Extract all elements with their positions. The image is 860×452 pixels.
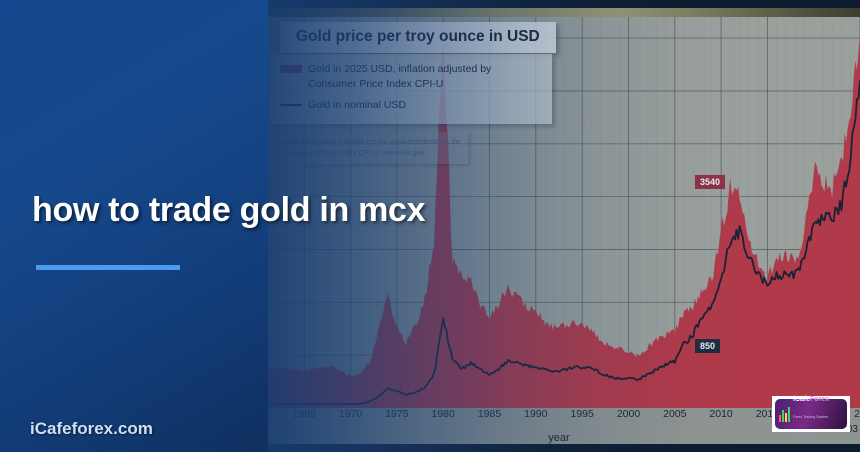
watermark-badge[interactable]: iCafeForex Forex Trading System icafefor…	[772, 396, 850, 432]
watermark-tagline: Forex Trading System	[793, 415, 828, 419]
legend-swatch-line-icon	[280, 101, 302, 109]
bottom-bar	[0, 444, 860, 452]
chart-top-strip	[258, 8, 860, 17]
legend-swatch-area-icon	[280, 65, 302, 73]
chart-x-axis-title: year	[258, 432, 860, 444]
chart-source-note: Gold price, daily, London pm fix: www.bu…	[274, 132, 468, 164]
page-title: how to trade gold in mcx	[32, 190, 502, 230]
watermark-badge-inner: iCafeForex Forex Trading System icafefor…	[775, 399, 847, 429]
x-tick-1970: 1970	[339, 408, 362, 420]
x-tick-1980: 1980	[432, 408, 455, 420]
site-brand-label: iCafeforex.com	[30, 419, 153, 439]
legend-item-inflation-adjusted: Gold in 2025 USD, inflation adjusted by …	[280, 62, 542, 92]
legend-label-nominal: Gold in nominal USD	[308, 98, 542, 113]
x-tick-1965: 1965	[293, 408, 316, 420]
watermark-name-secondary: Forex	[810, 396, 829, 403]
watermark-text-block: iCafeForex Forex Trading System icafefor…	[793, 389, 843, 439]
x-tick-25: 25	[854, 408, 860, 420]
watermark-subline: icafeforex.com	[793, 431, 813, 435]
social-share-card: 1965197019751980198519901995200020052010…	[0, 0, 860, 452]
bar-chart-icon	[779, 407, 790, 422]
x-tick-2010: 2010	[709, 408, 732, 420]
x-tick-1985: 1985	[478, 408, 501, 420]
source-line-cpi: Consumer Price Index CPI-U: www.bls.gov	[282, 147, 460, 158]
x-tick-2005: 2005	[663, 408, 686, 420]
chart-legend: Gold in 2025 USD, inflation adjusted by …	[270, 54, 552, 124]
legend-item-nominal: Gold in nominal USD	[280, 98, 542, 113]
annotation-peak-real: 3540	[695, 175, 725, 189]
watermark-name-primary: iCafe	[793, 396, 810, 403]
x-tick-1975: 1975	[385, 408, 408, 420]
x-tick-1995: 1995	[571, 408, 594, 420]
legend-label-inflation-adjusted: Gold in 2025 USD, inflation adjusted by …	[308, 62, 542, 92]
x-tick-1990: 1990	[524, 408, 547, 420]
chart-x-axis: 1965197019751980198519901995200020052010…	[258, 408, 860, 430]
source-line-gold: Gold price, daily, London pm fix: www.bu…	[282, 136, 460, 147]
chart-title: Gold price per troy ounce in USD	[280, 22, 556, 53]
headline-underline-accent	[36, 265, 180, 270]
x-tick-2000: 2000	[617, 408, 640, 420]
watermark-name: iCafeForex	[793, 396, 829, 403]
annotation-peak-nominal: 850	[695, 339, 720, 353]
